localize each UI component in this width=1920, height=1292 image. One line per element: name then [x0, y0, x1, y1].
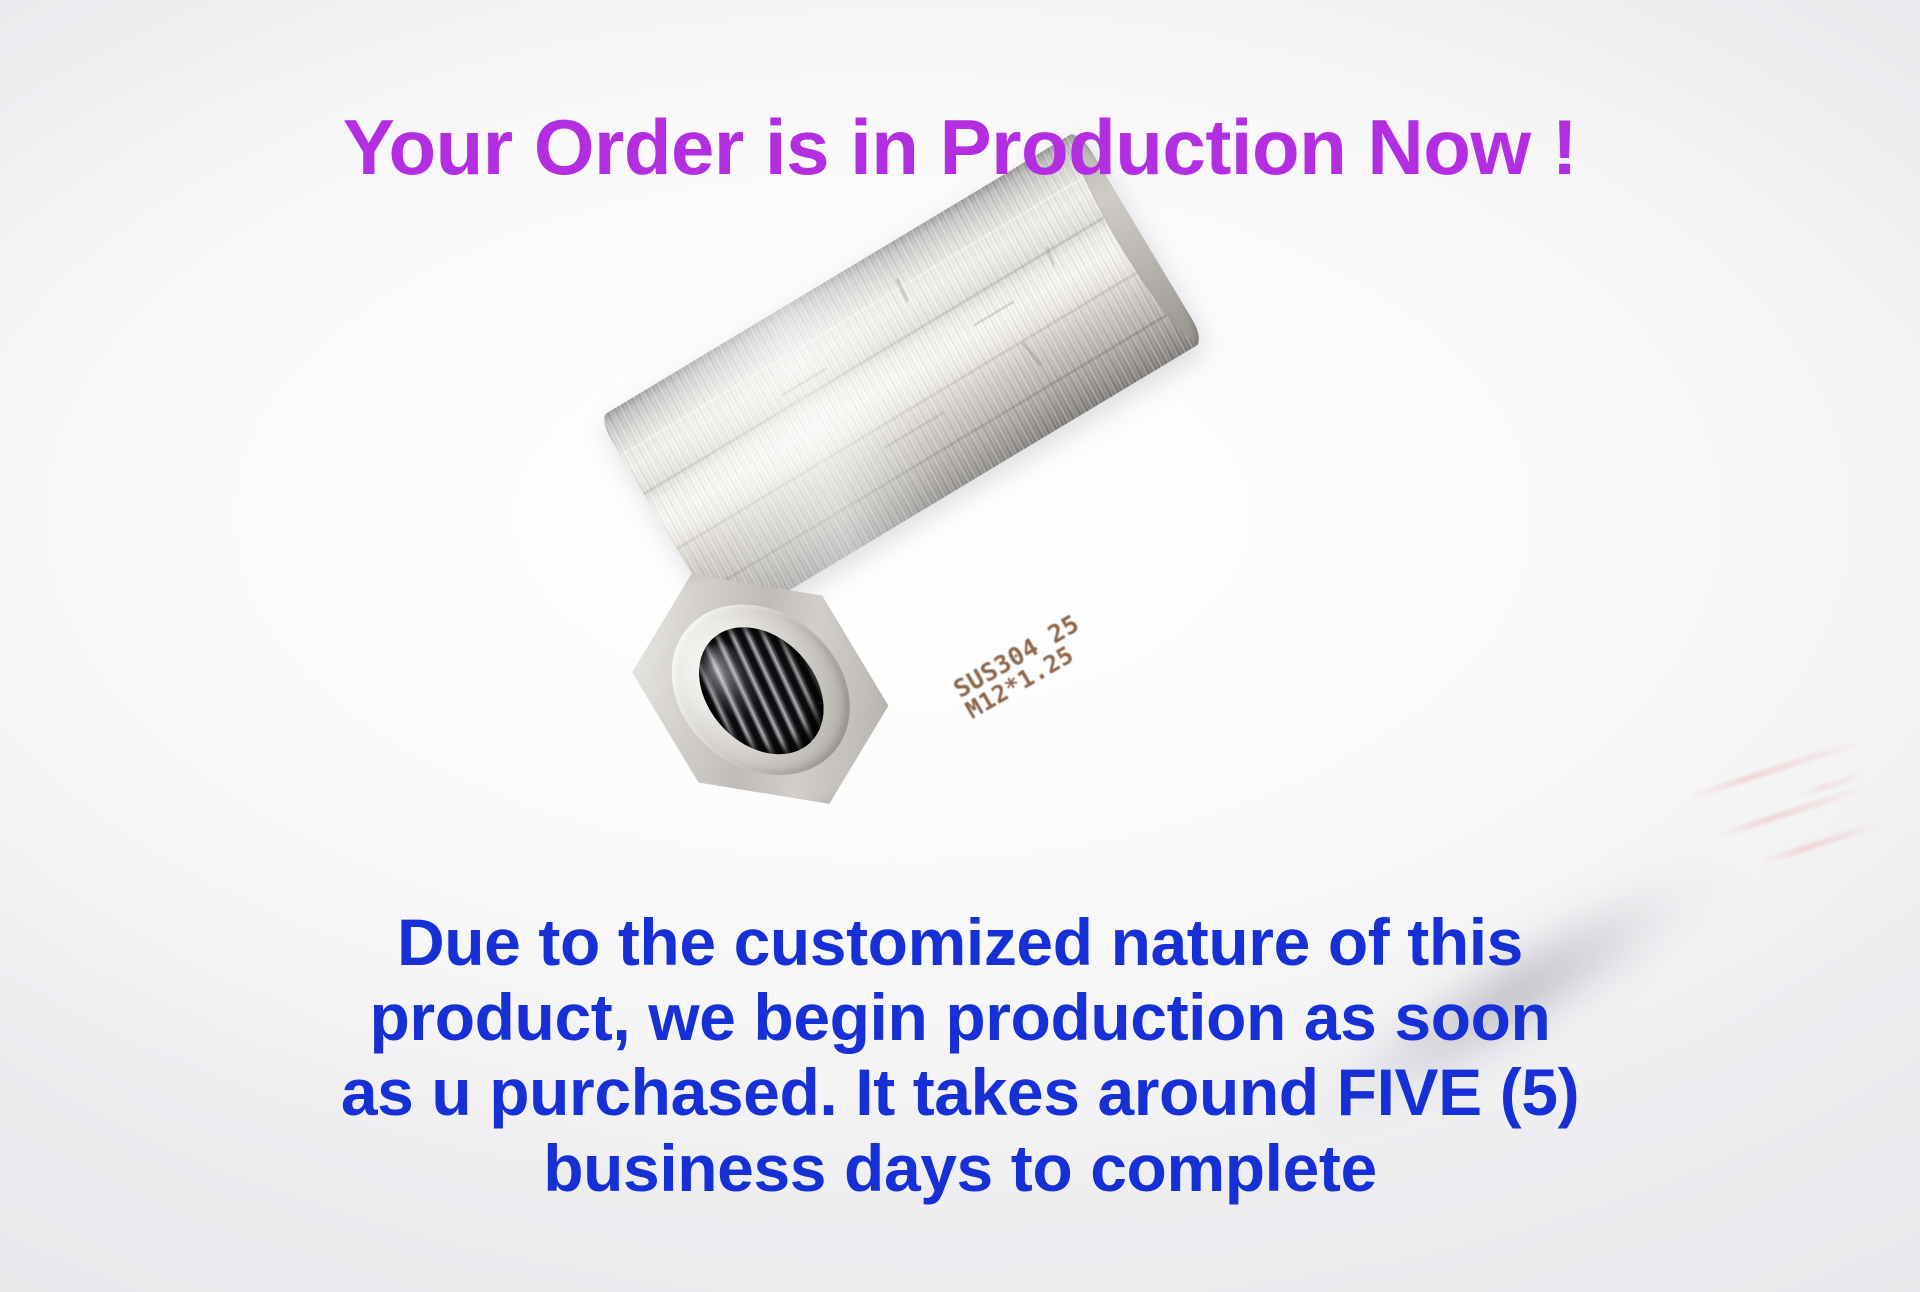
body-copy-line: business days to complete — [0, 1131, 1920, 1206]
promo-image: SUS304 25 M12*1.25 Your Order is in Prod… — [0, 0, 1920, 1292]
headline-text: Your Order is in Production Now ! — [0, 108, 1920, 186]
body-copy-line: as u purchased. It takes around FIVE (5) — [0, 1055, 1920, 1130]
body-copy-line: Due to the customized nature of this — [0, 905, 1920, 980]
body-copy-line: product, we begin production as soon — [0, 980, 1920, 1055]
body-copy-text: Due to the customized nature of this pro… — [0, 905, 1920, 1206]
